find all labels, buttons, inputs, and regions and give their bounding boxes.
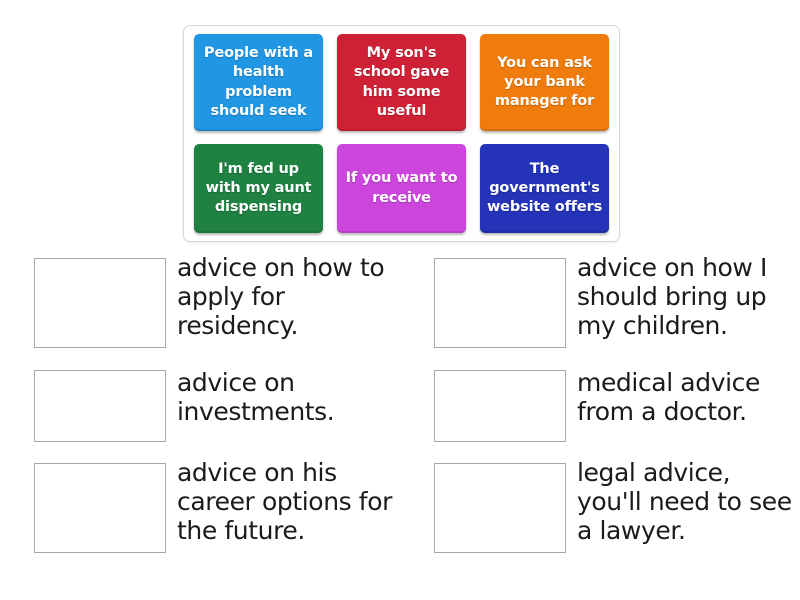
tile-row-1: People with a health problem should seek… [194,34,609,131]
answer-text-2: advice on how I should bring up my child… [566,253,800,340]
drop-zone-3[interactable] [34,370,166,442]
tile-label: The government's website offers [485,160,604,217]
answer-text-1: advice on how to apply for residency. [166,253,400,340]
answer-row-4: medical advice from a doctor. [400,368,800,458]
drop-zone-6[interactable] [434,463,566,553]
drop-zone-1[interactable] [34,258,166,348]
answer-list: advice on how to apply for residency. ad… [0,253,800,573]
tile-label: You can ask your bank manager for [485,54,604,111]
draggable-tile-3[interactable]: You can ask your bank manager for [480,34,609,131]
answer-row-3: advice on investments. [0,368,400,458]
answer-row-1: advice on how to apply for residency. [0,253,400,368]
tile-bank-panel: People with a health problem should seek… [183,25,620,242]
tile-label: People with a health problem should seek [199,44,318,121]
drop-zone-4[interactable] [434,370,566,442]
draggable-tile-6[interactable]: The government's website offers [480,144,609,233]
tile-label: My son's school gave him some useful [342,44,461,121]
tile-row-2: I'm fed up with my aunt dispensing If yo… [194,144,609,233]
tile-label: If you want to receive [342,169,461,207]
answer-text-5: advice on his career options for the fut… [166,458,400,545]
draggable-tile-4[interactable]: I'm fed up with my aunt dispensing [194,144,323,233]
answer-row-5: advice on his career options for the fut… [0,458,400,573]
draggable-tile-1[interactable]: People with a health problem should seek [194,34,323,131]
draggable-tile-2[interactable]: My son's school gave him some useful [337,34,466,131]
answer-text-3: advice on investments. [166,368,400,426]
answer-row-2: advice on how I should bring up my child… [400,253,800,368]
answer-row-6: legal advice, you'll need to see a lawye… [400,458,800,573]
draggable-tile-5[interactable]: If you want to receive [337,144,466,233]
answer-text-4: medical advice from a doctor. [566,368,800,426]
drop-zone-5[interactable] [34,463,166,553]
drop-zone-2[interactable] [434,258,566,348]
tile-label: I'm fed up with my aunt dispensing [199,160,318,217]
answer-text-6: legal advice, you'll need to see a lawye… [566,458,800,545]
